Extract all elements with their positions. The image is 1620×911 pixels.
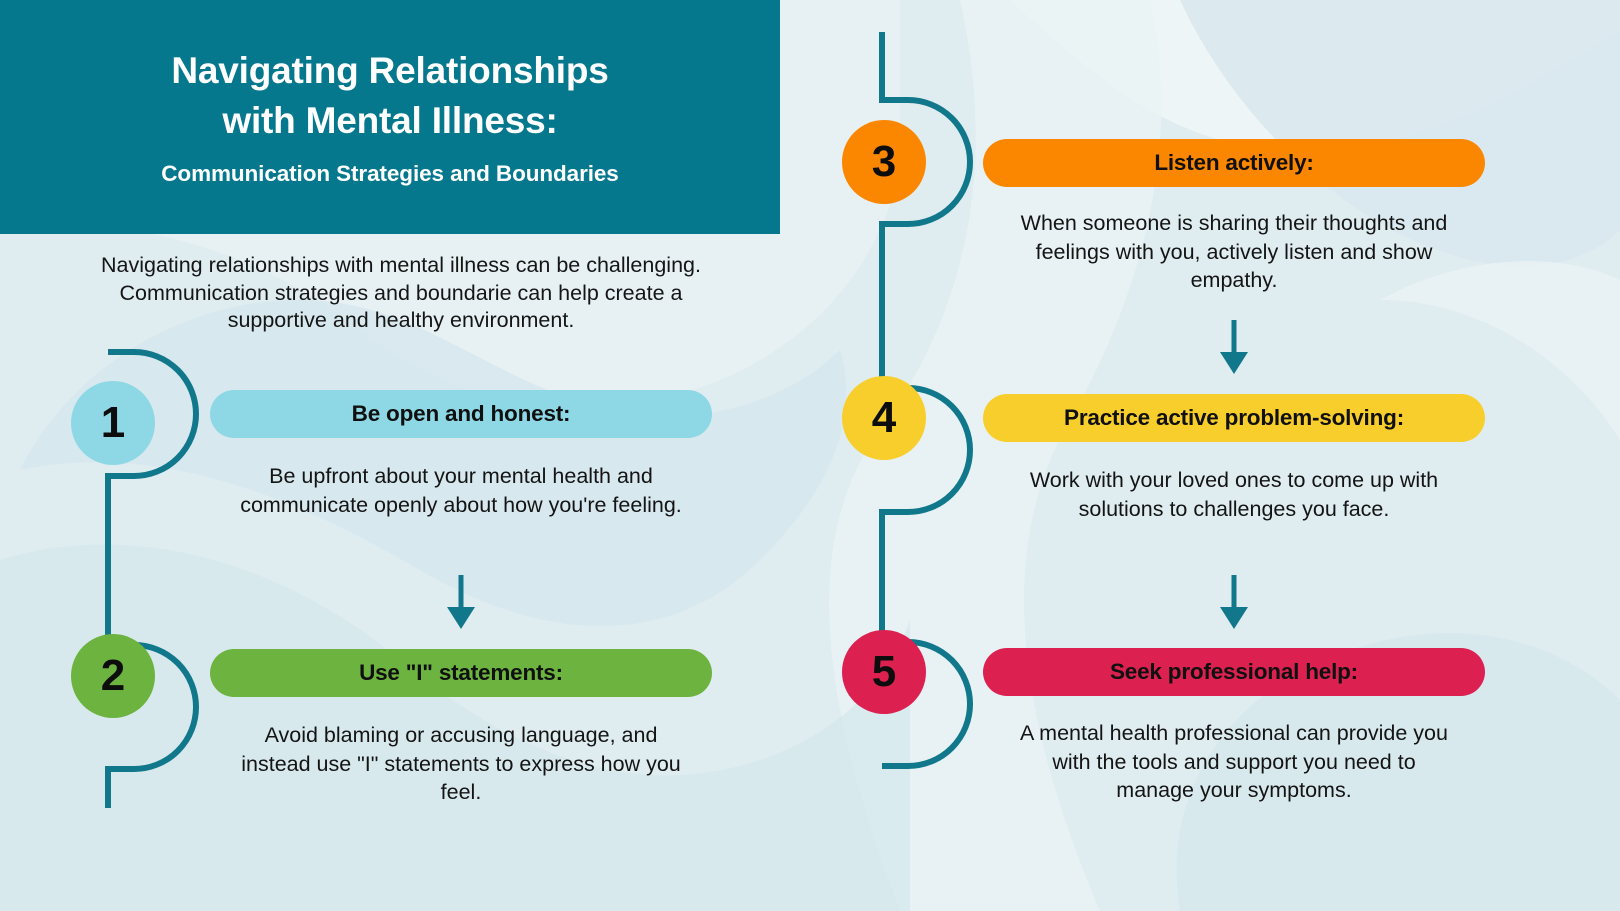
step-2-description: Avoid blaming or accusing language, and … — [240, 721, 682, 807]
step-4-number: 4 — [872, 396, 896, 440]
step-2-title: Use "I" statements: — [359, 660, 563, 686]
right-connector-line — [790, 0, 1050, 911]
step-2-number: 2 — [101, 654, 125, 698]
step-1-description: Be upfront about your mental health and … — [240, 462, 682, 519]
step-5-number: 5 — [872, 650, 896, 694]
step-3-number-circle: 3 — [842, 120, 926, 204]
step-3-title-pill[interactable]: Listen actively: — [983, 139, 1485, 187]
arrow-down-icon-2 — [1214, 320, 1254, 376]
step-1-number-circle: 1 — [71, 381, 155, 465]
step-4-title-pill[interactable]: Practice active problem-solving: — [983, 394, 1485, 442]
arrow-down-icon-1 — [441, 575, 481, 631]
left-column: 1 Be open and honest: Be upfront about y… — [0, 0, 790, 911]
step-2-title-pill[interactable]: Use "I" statements: — [210, 649, 712, 697]
step-1-title-pill[interactable]: Be open and honest: — [210, 390, 712, 438]
step-5-description: A mental health professional can provide… — [1013, 719, 1455, 805]
step-1-title: Be open and honest: — [352, 401, 571, 427]
arrow-down-icon-3 — [1214, 575, 1254, 631]
right-column: 3 Listen actively: When someone is shari… — [790, 0, 1620, 911]
step-4-description: Work with your loved ones to come up wit… — [1013, 466, 1455, 523]
step-5-title-pill[interactable]: Seek professional help: — [983, 648, 1485, 696]
step-4-title: Practice active problem-solving: — [1064, 405, 1404, 431]
step-2-number-circle: 2 — [71, 634, 155, 718]
step-5-number-circle: 5 — [842, 630, 926, 714]
step-3-description: When someone is sharing their thoughts a… — [1013, 209, 1455, 295]
infographic-canvas: Navigating Relationships with Mental Ill… — [0, 0, 1620, 911]
step-3-number: 3 — [872, 140, 896, 184]
step-5-title: Seek professional help: — [1110, 659, 1358, 685]
step-4-number-circle: 4 — [842, 376, 926, 460]
step-1-number: 1 — [101, 401, 125, 445]
step-3-title: Listen actively: — [1154, 150, 1313, 176]
